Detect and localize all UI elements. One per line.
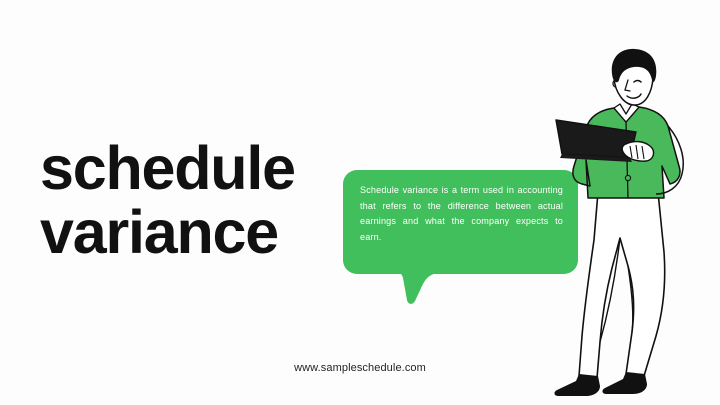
head-icon (612, 49, 657, 105)
footer-website-url[interactable]: www.sampleschedule.com (0, 362, 720, 374)
definition-text: Schedule variance is a term used in acco… (360, 183, 563, 245)
page-title-line-1: schedule (40, 136, 340, 200)
speech-bubble-tail (398, 268, 440, 306)
trousers-icon (579, 192, 665, 378)
slide-canvas: schedule variance Schedule variance is a… (0, 0, 720, 405)
page-title-line-2: variance (40, 200, 340, 264)
page-title: schedule variance (40, 136, 340, 264)
shoes-icon (554, 372, 647, 396)
person-with-laptop-illustration (540, 40, 720, 405)
